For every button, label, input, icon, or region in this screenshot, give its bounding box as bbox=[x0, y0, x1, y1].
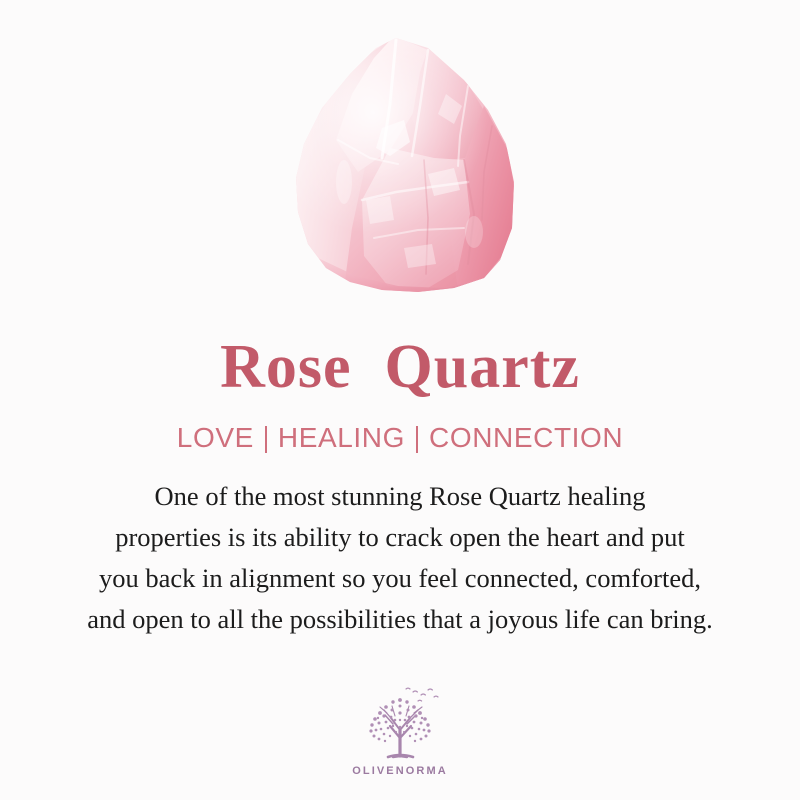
rose-quartz-poster: Rose Quartz LOVE HEALING CONNECTION One … bbox=[0, 0, 800, 800]
keyword-connection: CONNECTION bbox=[429, 424, 623, 452]
keyword-list: LOVE HEALING CONNECTION bbox=[177, 424, 623, 452]
description-line: and open to all the possibilities that a… bbox=[30, 599, 770, 640]
keyword-separator bbox=[416, 426, 418, 453]
crystal-inner-glow bbox=[286, 38, 494, 258]
hero-image-stage bbox=[0, 0, 800, 300]
rose-quartz-crystal bbox=[278, 32, 528, 300]
keyword-healing: HEALING bbox=[278, 424, 405, 452]
keyword-separator bbox=[265, 426, 267, 453]
description-line: properties is its ability to crack open … bbox=[30, 517, 770, 558]
tree-of-life-icon bbox=[357, 686, 443, 762]
description-line: you back in alignment so you feel connec… bbox=[30, 558, 770, 599]
page-title: Rose Quartz bbox=[220, 336, 580, 398]
description-paragraph: One of the most stunning Rose Quartz hea… bbox=[30, 476, 770, 640]
brand-logo: OLIVENORMA bbox=[0, 686, 800, 777]
description-line: One of the most stunning Rose Quartz hea… bbox=[30, 476, 770, 517]
brand-wordmark: OLIVENORMA bbox=[352, 765, 448, 777]
keyword-love: LOVE bbox=[177, 424, 254, 452]
